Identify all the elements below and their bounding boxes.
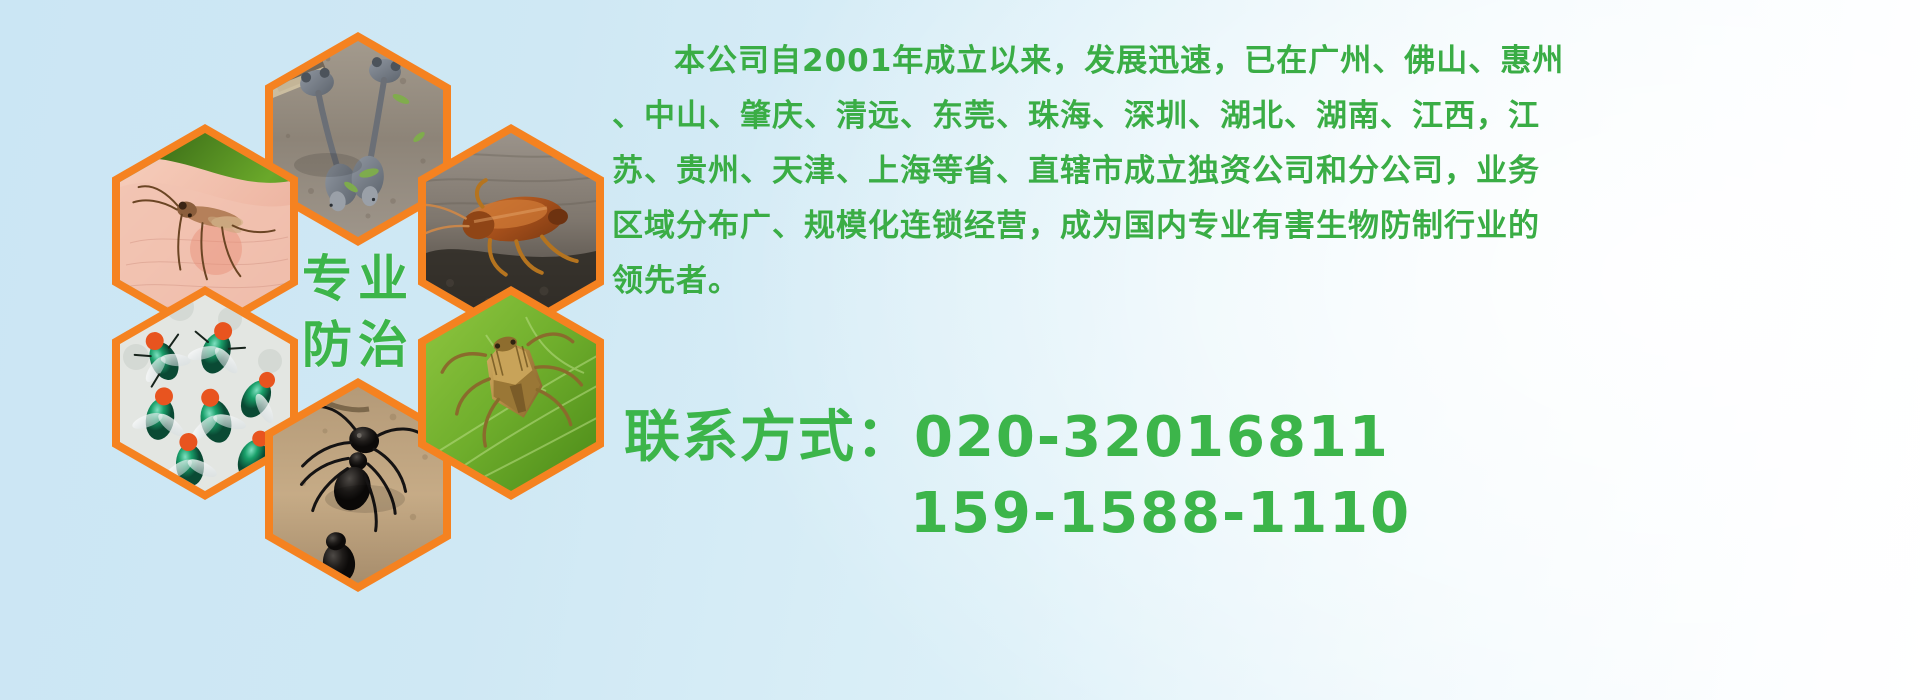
contact-secondary-phone[interactable]: 159-1588-1110 (624, 476, 1884, 552)
intro-line-3: 苏、贵州、天津、上海等省、直辖市成立独资公司和分公司，业务 (612, 144, 1872, 199)
honeycomb-collage: 专业 防治 (82, 6, 602, 586)
center-word-1: 专业 (302, 254, 414, 304)
company-intro-paragraph: 本公司自2001年成立以来，发展迅速，已在广州、佛山、惠州 、中山、肇庆、清远、… (612, 34, 1872, 309)
intro-line-1: 本公司自2001年成立以来，发展迅速，已在广州、佛山、惠州 (612, 34, 1872, 89)
intro-line-2: 、中山、肇庆、清远、东莞、珠海、深圳、湖北、湖南、江西，江 (612, 89, 1872, 144)
intro-line-5: 领先者。 (612, 254, 1872, 309)
contact-primary-phone[interactable]: 联系方式：020-32016811 (624, 400, 1884, 476)
center-word-2: 防治 (302, 320, 414, 370)
intro-line-4: 区域分布广、规模化连锁经营，成为国内专业有害生物防制行业的 (612, 199, 1872, 254)
promo-banner: 专业 防治 本公司自2001年成立以来，发展迅速，已在广州、佛山、惠州 、中山、… (0, 0, 1920, 700)
stinkbug-photo (426, 295, 596, 491)
honeycomb-center-label: 专业 防治 (265, 205, 451, 419)
contact-block: 联系方式：020-32016811 159-1588-1110 (624, 400, 1884, 552)
